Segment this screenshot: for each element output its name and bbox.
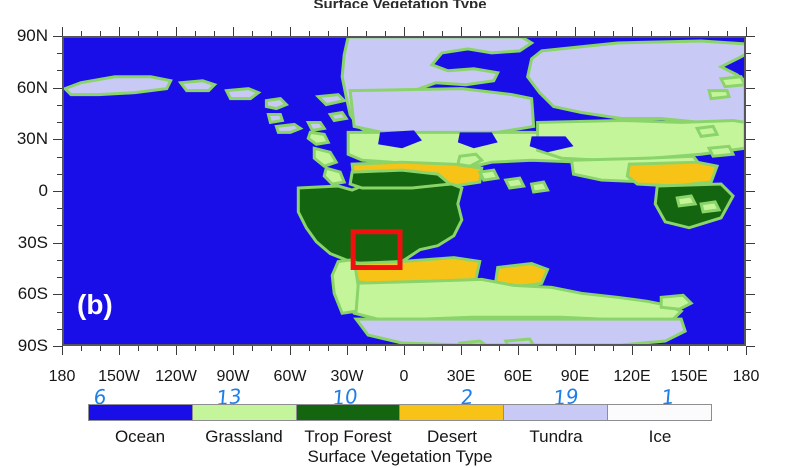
colorbar (88, 404, 712, 421)
x-tick-bottom-170 (727, 346, 728, 351)
y-tick-right--30 (746, 243, 755, 244)
y-tick-left-30 (53, 139, 62, 140)
y-tick-left-90 (53, 36, 62, 37)
x-tick-bottom--120 (176, 346, 177, 355)
colorbar-label-tundra: Tundra (529, 427, 582, 447)
colorbar-segment-grassland (192, 405, 296, 420)
y-tick-right-40 (746, 122, 751, 123)
x-tick-top-110 (613, 31, 614, 36)
y-axis-label-6: 90S (0, 336, 48, 356)
x-tick-top--130 (157, 31, 158, 36)
x-tick-top-100 (594, 31, 595, 36)
colorbar-segment-ice (607, 405, 711, 420)
x-tick-top-50 (499, 31, 500, 36)
x-tick-bottom-110 (613, 346, 614, 351)
x-tick-bottom--40 (328, 346, 329, 351)
x-tick-top-90 (575, 27, 576, 36)
y-tick-right-30 (746, 139, 755, 140)
x-tick-bottom-150 (689, 346, 690, 355)
x-tick-bottom--180 (62, 346, 63, 355)
y-tick-right--10 (746, 208, 751, 209)
vegetation-map-svg (63, 37, 745, 345)
x-tick-bottom-30 (461, 346, 462, 355)
y-tick-right-20 (746, 157, 751, 158)
x-tick-bottom--160 (100, 346, 101, 351)
x-axis-label-4: 60W (274, 368, 307, 386)
y-axis-label-3: 0 (0, 181, 48, 201)
x-tick-bottom-90 (575, 346, 576, 355)
panel-label: (b) (77, 289, 113, 321)
tundra-north-west-body (350, 89, 533, 135)
vegetation-map-plot: (b) (62, 36, 746, 346)
y-tick-left--60 (53, 294, 62, 295)
colorbar-segment-desert (399, 405, 503, 420)
y-tick-right-60 (746, 88, 755, 89)
x-tick-bottom-160 (708, 346, 709, 351)
x-tick-bottom--150 (119, 346, 120, 355)
colorbar-title: Surface Vegetation Type (0, 447, 800, 467)
colorbar-segment-tundra (503, 405, 607, 420)
x-tick-bottom-20 (442, 346, 443, 351)
x-tick-top--10 (385, 31, 386, 36)
y-tick-right-80 (746, 53, 751, 54)
x-tick-bottom-130 (651, 346, 652, 351)
x-tick-bottom-40 (480, 346, 481, 351)
x-tick-top-130 (651, 31, 652, 36)
x-axis-label-7: 30E (447, 368, 475, 386)
x-tick-top--20 (366, 31, 367, 36)
x-tick-bottom--130 (157, 346, 158, 351)
y-tick-right--40 (746, 260, 751, 261)
x-tick-bottom--90 (233, 346, 234, 355)
x-tick-top-80 (556, 31, 557, 36)
x-tick-top-140 (670, 31, 671, 36)
x-axis-label-8: 60E (504, 368, 532, 386)
x-tick-top-180 (746, 27, 747, 36)
desert-north-east (627, 162, 717, 186)
y-tick-left-0 (53, 191, 62, 192)
x-tick-top--180 (62, 27, 63, 36)
x-tick-top-30 (461, 27, 462, 36)
x-axis-label-2: 120W (155, 368, 197, 386)
x-tick-top--150 (119, 27, 120, 36)
colorbar-segment-trop-forest (296, 405, 400, 420)
x-tick-bottom--140 (138, 346, 139, 351)
y-tick-right-10 (746, 174, 751, 175)
y-tick-left--90 (53, 346, 62, 347)
y-tick-right--90 (746, 346, 755, 347)
x-axis-label-5: 30W (331, 368, 364, 386)
y-tick-left-60 (53, 88, 62, 89)
y-tick-right-0 (746, 191, 755, 192)
colorbar-label-desert: Desert (427, 427, 477, 447)
x-tick-top--50 (309, 31, 310, 36)
x-tick-bottom-80 (556, 346, 557, 351)
x-tick-top--60 (290, 27, 291, 36)
y-tick-right--50 (746, 277, 751, 278)
x-tick-bottom-70 (537, 346, 538, 351)
x-axis-label-6: 0 (400, 368, 409, 386)
colorbar-label-ice: Ice (649, 427, 672, 447)
y-tick-left--40 (57, 260, 62, 261)
x-axis-label-12: 180 (733, 368, 760, 386)
y-tick-left-70 (57, 70, 62, 71)
x-tick-top--100 (214, 31, 215, 36)
x-tick-top-60 (518, 27, 519, 36)
y-axis-label-1: 60N (0, 78, 48, 98)
y-tick-left--30 (53, 243, 62, 244)
trop-forest-north-lobe (350, 170, 450, 188)
x-tick-top-0 (404, 27, 405, 36)
x-tick-bottom-60 (518, 346, 519, 355)
x-tick-top--40 (328, 31, 329, 36)
x-tick-top-150 (689, 27, 690, 36)
x-tick-bottom--20 (366, 346, 367, 351)
x-tick-top--90 (233, 27, 234, 36)
x-tick-top-170 (727, 31, 728, 36)
x-tick-bottom-120 (632, 346, 633, 355)
x-tick-bottom--10 (385, 346, 386, 351)
y-axis-label-2: 30N (0, 129, 48, 149)
x-tick-top--110 (195, 31, 196, 36)
y-tick-left--20 (57, 225, 62, 226)
x-tick-bottom-10 (423, 346, 424, 351)
x-tick-top-40 (480, 31, 481, 36)
x-axis-label-10: 120E (613, 368, 650, 386)
x-tick-bottom--110 (195, 346, 196, 351)
y-tick-left-40 (57, 122, 62, 123)
x-axis-label-11: 150E (670, 368, 707, 386)
y-tick-left-10 (57, 174, 62, 175)
y-tick-right--70 (746, 312, 751, 313)
x-tick-top--70 (271, 31, 272, 36)
x-tick-top--80 (252, 31, 253, 36)
x-tick-top-10 (423, 31, 424, 36)
x-tick-top--140 (138, 31, 139, 36)
x-tick-top--120 (176, 27, 177, 36)
figure-root: Surface Vegetation Type (0, 0, 800, 468)
x-tick-bottom--70 (271, 346, 272, 351)
x-tick-top--30 (347, 27, 348, 36)
x-tick-bottom-100 (594, 346, 595, 351)
x-tick-bottom--80 (252, 346, 253, 351)
x-tick-bottom--60 (290, 346, 291, 355)
grassland-east-tail (661, 295, 691, 309)
y-tick-right--20 (746, 225, 751, 226)
y-tick-left--50 (57, 277, 62, 278)
x-tick-bottom-50 (499, 346, 500, 351)
x-tick-top-160 (708, 31, 709, 36)
x-tick-bottom-0 (404, 346, 405, 355)
x-tick-top--160 (100, 31, 101, 36)
y-tick-left--70 (57, 312, 62, 313)
y-tick-right--80 (746, 329, 751, 330)
x-tick-bottom-140 (670, 346, 671, 351)
x-tick-bottom--30 (347, 346, 348, 355)
y-tick-left-20 (57, 157, 62, 158)
x-tick-bottom--100 (214, 346, 215, 351)
y-tick-left--10 (57, 208, 62, 209)
y-tick-left-80 (57, 53, 62, 54)
x-tick-top-120 (632, 27, 633, 36)
x-tick-top-70 (537, 31, 538, 36)
y-axis-label-5: 60S (0, 284, 48, 304)
x-axis-label-0: 180 (49, 368, 76, 386)
colorbar-label-trop-forest: Trop Forest (304, 427, 391, 447)
y-tick-left--80 (57, 329, 62, 330)
x-tick-bottom--170 (81, 346, 82, 351)
x-tick-top--170 (81, 31, 82, 36)
y-axis-label-0: 90N (0, 26, 48, 46)
cut-off-title: Surface Vegetation Type (0, 0, 800, 8)
colorbar-label-grassland: Grassland (205, 427, 282, 447)
y-tick-right-90 (746, 36, 755, 37)
x-axis-label-1: 150W (98, 368, 140, 386)
x-tick-bottom-180 (746, 346, 747, 355)
x-tick-top-20 (442, 31, 443, 36)
colorbar-label-ocean: Ocean (115, 427, 165, 447)
x-tick-bottom--50 (309, 346, 310, 351)
y-tick-right--60 (746, 294, 755, 295)
y-tick-right-70 (746, 70, 751, 71)
y-tick-right-50 (746, 105, 751, 106)
y-axis-label-4: 30S (0, 233, 48, 253)
colorbar-segment-ocean (89, 405, 192, 420)
y-tick-left-50 (57, 105, 62, 106)
x-axis-label-3: 90W (217, 368, 250, 386)
